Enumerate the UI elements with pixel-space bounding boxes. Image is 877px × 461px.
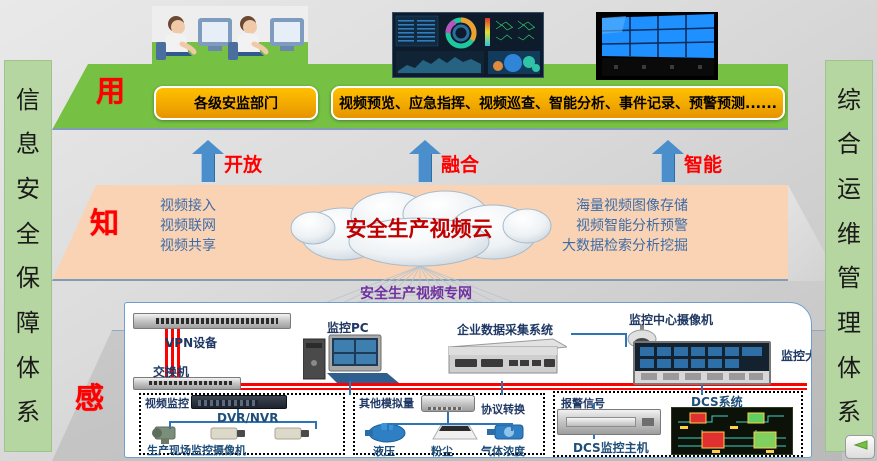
connector-line (387, 423, 511, 425)
protocol-converter-image (421, 395, 475, 412)
arrow-label-intelligent: 智能 (684, 150, 722, 177)
pillar-right-char: 管 (837, 266, 861, 290)
monitoring-big-screen-image (633, 341, 771, 385)
cloud-left-item: 视频共享 (160, 237, 216, 257)
group-title-video-surveillance: 视频监控 (145, 395, 189, 411)
pillar-left-char: 安 (16, 177, 40, 201)
up-arrow-open-icon (192, 140, 224, 184)
cloud-right-item: 海量视频图像存储 (562, 197, 688, 217)
group-item-dvr-nvr: DVR/NVR (217, 411, 278, 425)
department-pill[interactable]: 各级安监部门 (154, 86, 318, 120)
dvr-nvr-image (191, 395, 287, 409)
connector-line (387, 423, 389, 431)
video-wall-image (596, 12, 718, 80)
up-arrow-intelligent-icon (652, 140, 684, 184)
group-item-protocol-converter: 协议转换 (481, 401, 525, 417)
arrow-label-fusion: 融合 (441, 150, 479, 177)
connector-line (625, 333, 627, 347)
arrow-label-open: 开放 (224, 150, 262, 177)
connector-line (169, 421, 171, 429)
private-network-label: 安全生产视频专网 (360, 283, 472, 303)
pillar-left-char: 保 (16, 266, 40, 290)
group-item-gas-concentration: 气体浓度 (481, 443, 525, 458)
stage-label-know: 知 (90, 200, 119, 242)
cloud-left-item: 视频接入 (160, 197, 216, 217)
device-label-switch: 交换机 (153, 363, 189, 380)
connector-line (501, 381, 503, 395)
pillar-right-char: 维 (837, 222, 861, 246)
group-item-dcs-system: DCS系统 (691, 393, 743, 410)
device-label-vpn: VPN设备 (165, 334, 217, 351)
stage-label-use: 用 (96, 68, 125, 110)
monitor-pc-image (303, 333, 401, 389)
vpn-device-image (133, 313, 291, 329)
device-label-big-screen: 监控大屏 (781, 347, 812, 364)
pillar-left-char: 全 (16, 222, 40, 246)
pillar-left-char: 息 (16, 132, 40, 156)
data-acquisition-system-image (441, 335, 567, 385)
pillar-right-char: 理 (837, 311, 861, 335)
pillar-right-char: 综 (837, 88, 861, 112)
analytics-dashboard-image (392, 12, 544, 78)
connector-line (511, 423, 513, 431)
device-label-monitor-pc: 监控PC (327, 319, 369, 336)
cloud-right-item: 大数据检索分析挖掘 (562, 237, 688, 257)
green-arrow-chip-icon[interactable] (845, 435, 875, 459)
connector-line (315, 421, 317, 429)
cloud-left-capabilities: 视频接入 视频联网 视频共享 (160, 197, 216, 257)
group-item-field-cameras: 生产现场监控摄像机 (147, 442, 246, 458)
pillar-right-char: 合 (837, 132, 861, 156)
dcs-host-image (557, 409, 661, 435)
cloud-right-capabilities: 海量视频图像存储 视频智能分析预警 大数据检索分析挖掘 (562, 197, 688, 257)
group-title-alarm-signal: 报警信号 (561, 395, 605, 411)
group-item-dcs-host: DCS监控主机 (573, 439, 649, 456)
diagram-canvas: 信 息 安 全 保 障 体 系 综 合 运 维 管 理 体 系 用 知 感 各级… (0, 0, 877, 461)
device-label-data-acquisition: 企业数据采集系统 (457, 321, 553, 338)
connector-line (349, 381, 351, 395)
group-item-hydraulic: 液压 (373, 443, 395, 458)
up-arrow-fusion-icon (409, 140, 441, 184)
group-title-analog-signals: 其他模拟量 (359, 395, 414, 411)
pillar-right-char: 运 (837, 177, 861, 201)
left-pillar-information-security: 信 息 安 全 保 障 体 系 (4, 60, 52, 452)
pillar-left-char: 体 (16, 356, 40, 380)
cloud-left-item: 视频联网 (160, 217, 216, 237)
infrastructure-panel: VPN设备 交换机 监控PC (124, 302, 812, 458)
right-pillar-operations-management: 综 合 运 维 管 理 体 系 (825, 60, 873, 452)
pillar-left-char: 系 (16, 400, 40, 424)
applications-pill[interactable]: 视频预览、应急指挥、视频巡查、智能分析、事件记录、预警预测...... (331, 86, 785, 120)
connector-line (447, 411, 449, 423)
operators-at-computers-image (152, 6, 308, 70)
connector-line (571, 333, 627, 335)
stage-label-sense: 感 (75, 375, 104, 417)
pillar-right-char: 体 (837, 356, 861, 380)
cloud-title: 安全生产视频云 (283, 213, 555, 243)
device-label-control-center-camera: 监控中心摄像机 (629, 311, 713, 328)
pillar-left-char: 障 (16, 311, 40, 335)
pillar-right-char: 系 (837, 400, 861, 424)
group-item-dust: 粉尘 (431, 443, 453, 458)
pillar-left-char: 信 (16, 88, 40, 112)
cloud-right-item: 视频智能分析预警 (562, 217, 688, 237)
